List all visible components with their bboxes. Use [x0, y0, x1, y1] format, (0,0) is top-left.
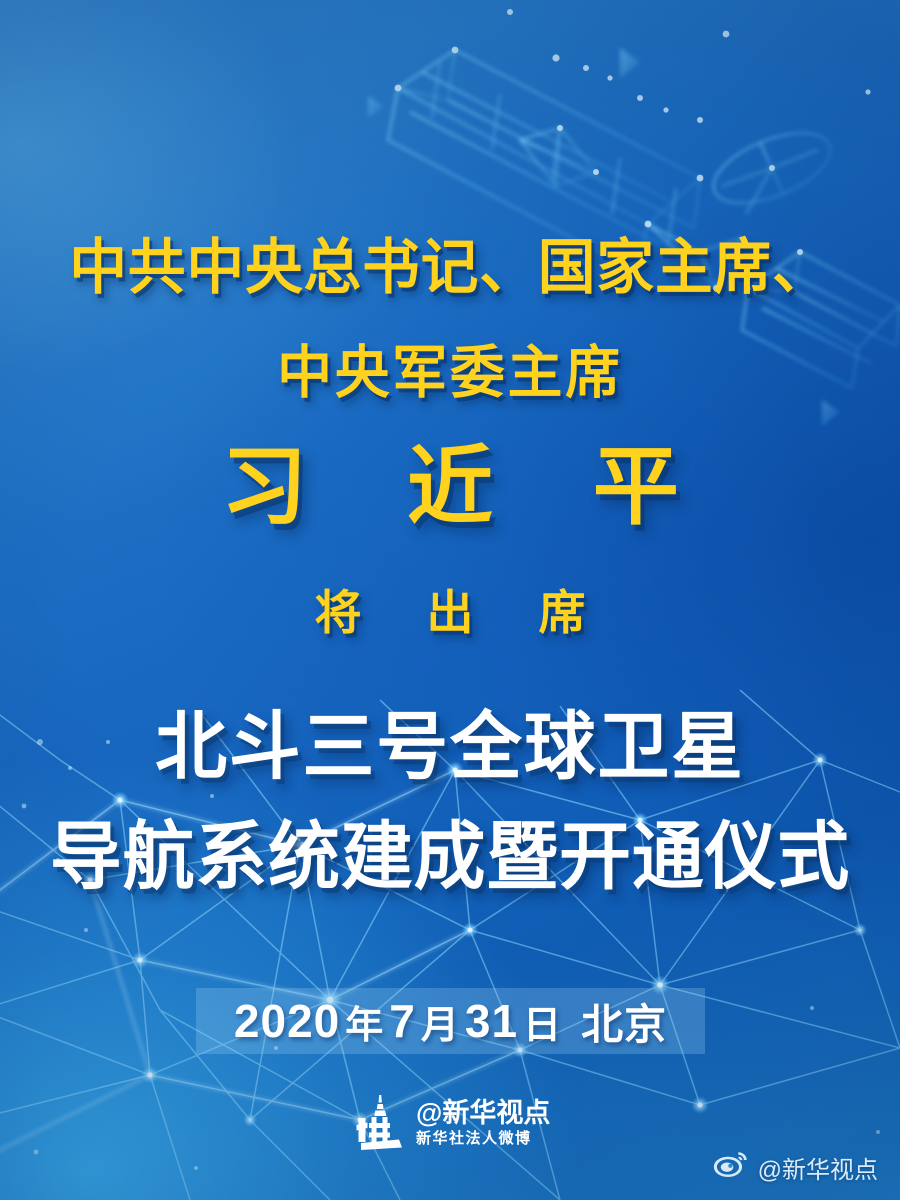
weibo-handle: @新华视点 — [758, 1150, 878, 1185]
headline-title-line-1: 中共中央总书记、国家主席、 — [18, 238, 882, 298]
date-month: 7 — [389, 994, 416, 1048]
date-month-unit: 月 — [421, 994, 460, 1049]
xinhua-emblem-icon — [355, 1095, 407, 1151]
xinhua-subtitle: 新华社法人微博 — [416, 1131, 550, 1146]
weibo-watermark: @新华视点 — [712, 1150, 878, 1184]
event-date-location: 2020 年 7 月 31 日 北京 — [196, 988, 705, 1054]
headline-title-line-2: 中央军委主席 — [18, 345, 882, 402]
person-name: 习 近 平 — [0, 444, 900, 530]
date-year: 2020 — [234, 994, 340, 1048]
xinhua-logo-text: @新华视点 新华社法人微博 — [416, 1100, 550, 1146]
date-year-unit: 年 — [345, 994, 384, 1049]
headline-action: 将 出 席 — [0, 589, 900, 636]
poster-canvas: 中共中央总书记、国家主席、 中央军委主席 习 近 平 将 出 席 北斗三号全球卫… — [0, 0, 900, 1200]
xinhua-logo: @新华视点 新华社法人微博 — [355, 1092, 555, 1154]
event-title-line-1: 北斗三号全球卫星 — [14, 710, 887, 784]
weibo-icon — [712, 1150, 750, 1185]
event-title-line-2: 导航系统建成暨开通仪式 — [14, 820, 887, 894]
date-day-unit: 日 — [523, 994, 562, 1049]
date-day: 31 — [465, 994, 518, 1048]
event-city: 北京 — [581, 991, 667, 1052]
xinhua-handle: @新华视点 — [416, 1100, 550, 1127]
